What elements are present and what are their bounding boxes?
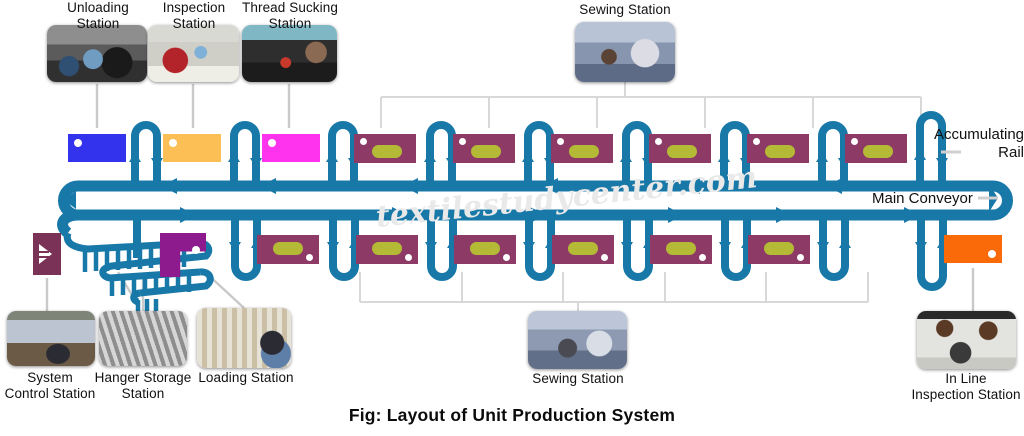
carrier-indicator-dot [797,254,804,261]
carrier-indicator-dot [74,139,82,147]
sewing-machine-pad [470,242,500,255]
box-system-control[interactable] [33,233,61,275]
label-accumulating-rail: Accumulating Rail [932,126,1024,162]
sewing-machine-pad [568,242,598,255]
caption-unloading-station: Unloading Station [42,0,154,31]
photo-thread-sucking-station [242,25,337,82]
carrier-indicator-dot [557,138,564,145]
carrier-indicator-dot [459,138,466,145]
photo-inspection-station [148,25,239,82]
box-sewing-u2[interactable] [453,134,515,163]
box-sewing-l3[interactable] [454,235,516,264]
carrier-indicator-dot [503,254,510,261]
sewing-machine-pad [372,242,402,255]
box-sewing-l2[interactable] [356,235,418,264]
photo-system-control-station [7,311,95,366]
caption-system-control-station: System Control Station [0,370,102,401]
box-sewing-u5[interactable] [747,134,809,163]
carrier-indicator-dot [851,138,858,145]
caption-line-1: Hanger Storage [91,370,195,386]
caption-line-2: Inspection Station [903,387,1024,403]
sewing-machine-pad [666,242,696,255]
carrier-indicator-dot [601,254,608,261]
carrier-indicator-dot [360,138,367,145]
photo-in-line-inspection-station [917,311,1016,369]
sewing-machine-pad [667,145,697,158]
photo-sewing-station-bottom [528,311,627,369]
caption-line-2: Station [42,16,154,32]
box-loading-station[interactable] [160,233,206,277]
box-sewing-u4[interactable] [649,134,711,163]
accumulating-rail-line-1: Accumulating [932,126,1024,144]
caption-hanger-storage-station: Hanger Storage Station [91,370,195,401]
carrier-indicator-dot [655,138,662,145]
caption-line-1: System [0,370,102,386]
sewing-machine-pad [569,145,599,158]
box-sewing-l1[interactable] [257,235,319,264]
caption-thread-sucking-station: Thread Sucking Station [232,0,348,31]
caption-loading-station: Loading Station [190,370,302,386]
box-sewing-l6[interactable] [748,235,810,264]
carrier-indicator-dot [405,254,412,261]
caption-line-2: Station [232,16,348,32]
box-sewing-l4[interactable] [552,235,614,264]
caption-line-1: Sewing Station [555,2,695,18]
control-keys-icon [39,251,49,253]
caption-line-2: Station [91,386,195,402]
diagram-canvas: Unloading Station Inspection Station Thr… [0,0,1024,436]
carrier-indicator-dot [169,139,177,147]
sewing-machine-pad [372,145,402,158]
caption-line-2: Control Station [0,386,102,402]
carrier-indicator-dot [988,250,996,258]
carrier-indicator-dot [192,246,200,254]
sewing-machine-pad [863,145,893,158]
carrier-indicator-dot [699,254,706,261]
box-unloading[interactable] [68,134,126,162]
caption-sewing-station-bottom: Sewing Station [508,371,648,387]
sewing-machine-pad [765,145,795,158]
caption-line-1: In Line [903,371,1024,387]
upper-accumulating-rails [135,115,942,182]
box-inspection[interactable] [163,134,221,162]
control-keys-icon [39,256,49,258]
sewing-machine-pad [764,242,794,255]
accumulating-rail-line-2: Rail [932,144,1024,162]
loading-station-shape [160,233,206,277]
label-main-conveyor: Main Conveyor [872,190,973,208]
control-terminal-icon [39,244,52,264]
main-conveyor-loop [63,186,1008,233]
box-sewing-l5[interactable] [650,235,712,264]
photo-loading-station [197,308,291,368]
caption-line-1: Unloading [42,0,154,16]
carrier-indicator-dot [268,139,276,147]
caption-line-1: Sewing Station [508,371,648,387]
photo-sewing-station-top [575,22,675,82]
caption-line-1: Thread Sucking [232,0,348,16]
carrier-indicator-dot [753,138,760,145]
photo-hanger-storage-station [99,311,187,366]
box-sewing-u1[interactable] [354,134,416,163]
figure-title: Fig: Layout of Unit Production System [0,405,1024,426]
photo-unloading-station [47,25,147,82]
sewing-machine-pad [273,242,303,255]
box-thread-sucking[interactable] [262,134,320,162]
sewing-machine-pad [471,145,501,158]
sewing-group-bracket-top [381,82,921,128]
carrier-indicator-dot [306,254,313,261]
caption-in-line-inspection-station: In Line Inspection Station [903,371,1024,402]
box-sewing-u6[interactable] [845,134,907,163]
box-sewing-u3[interactable] [551,134,613,163]
caption-line-1: Loading Station [190,370,302,386]
box-in-line-inspection[interactable] [944,235,1002,263]
caption-sewing-station-top: Sewing Station [555,2,695,18]
